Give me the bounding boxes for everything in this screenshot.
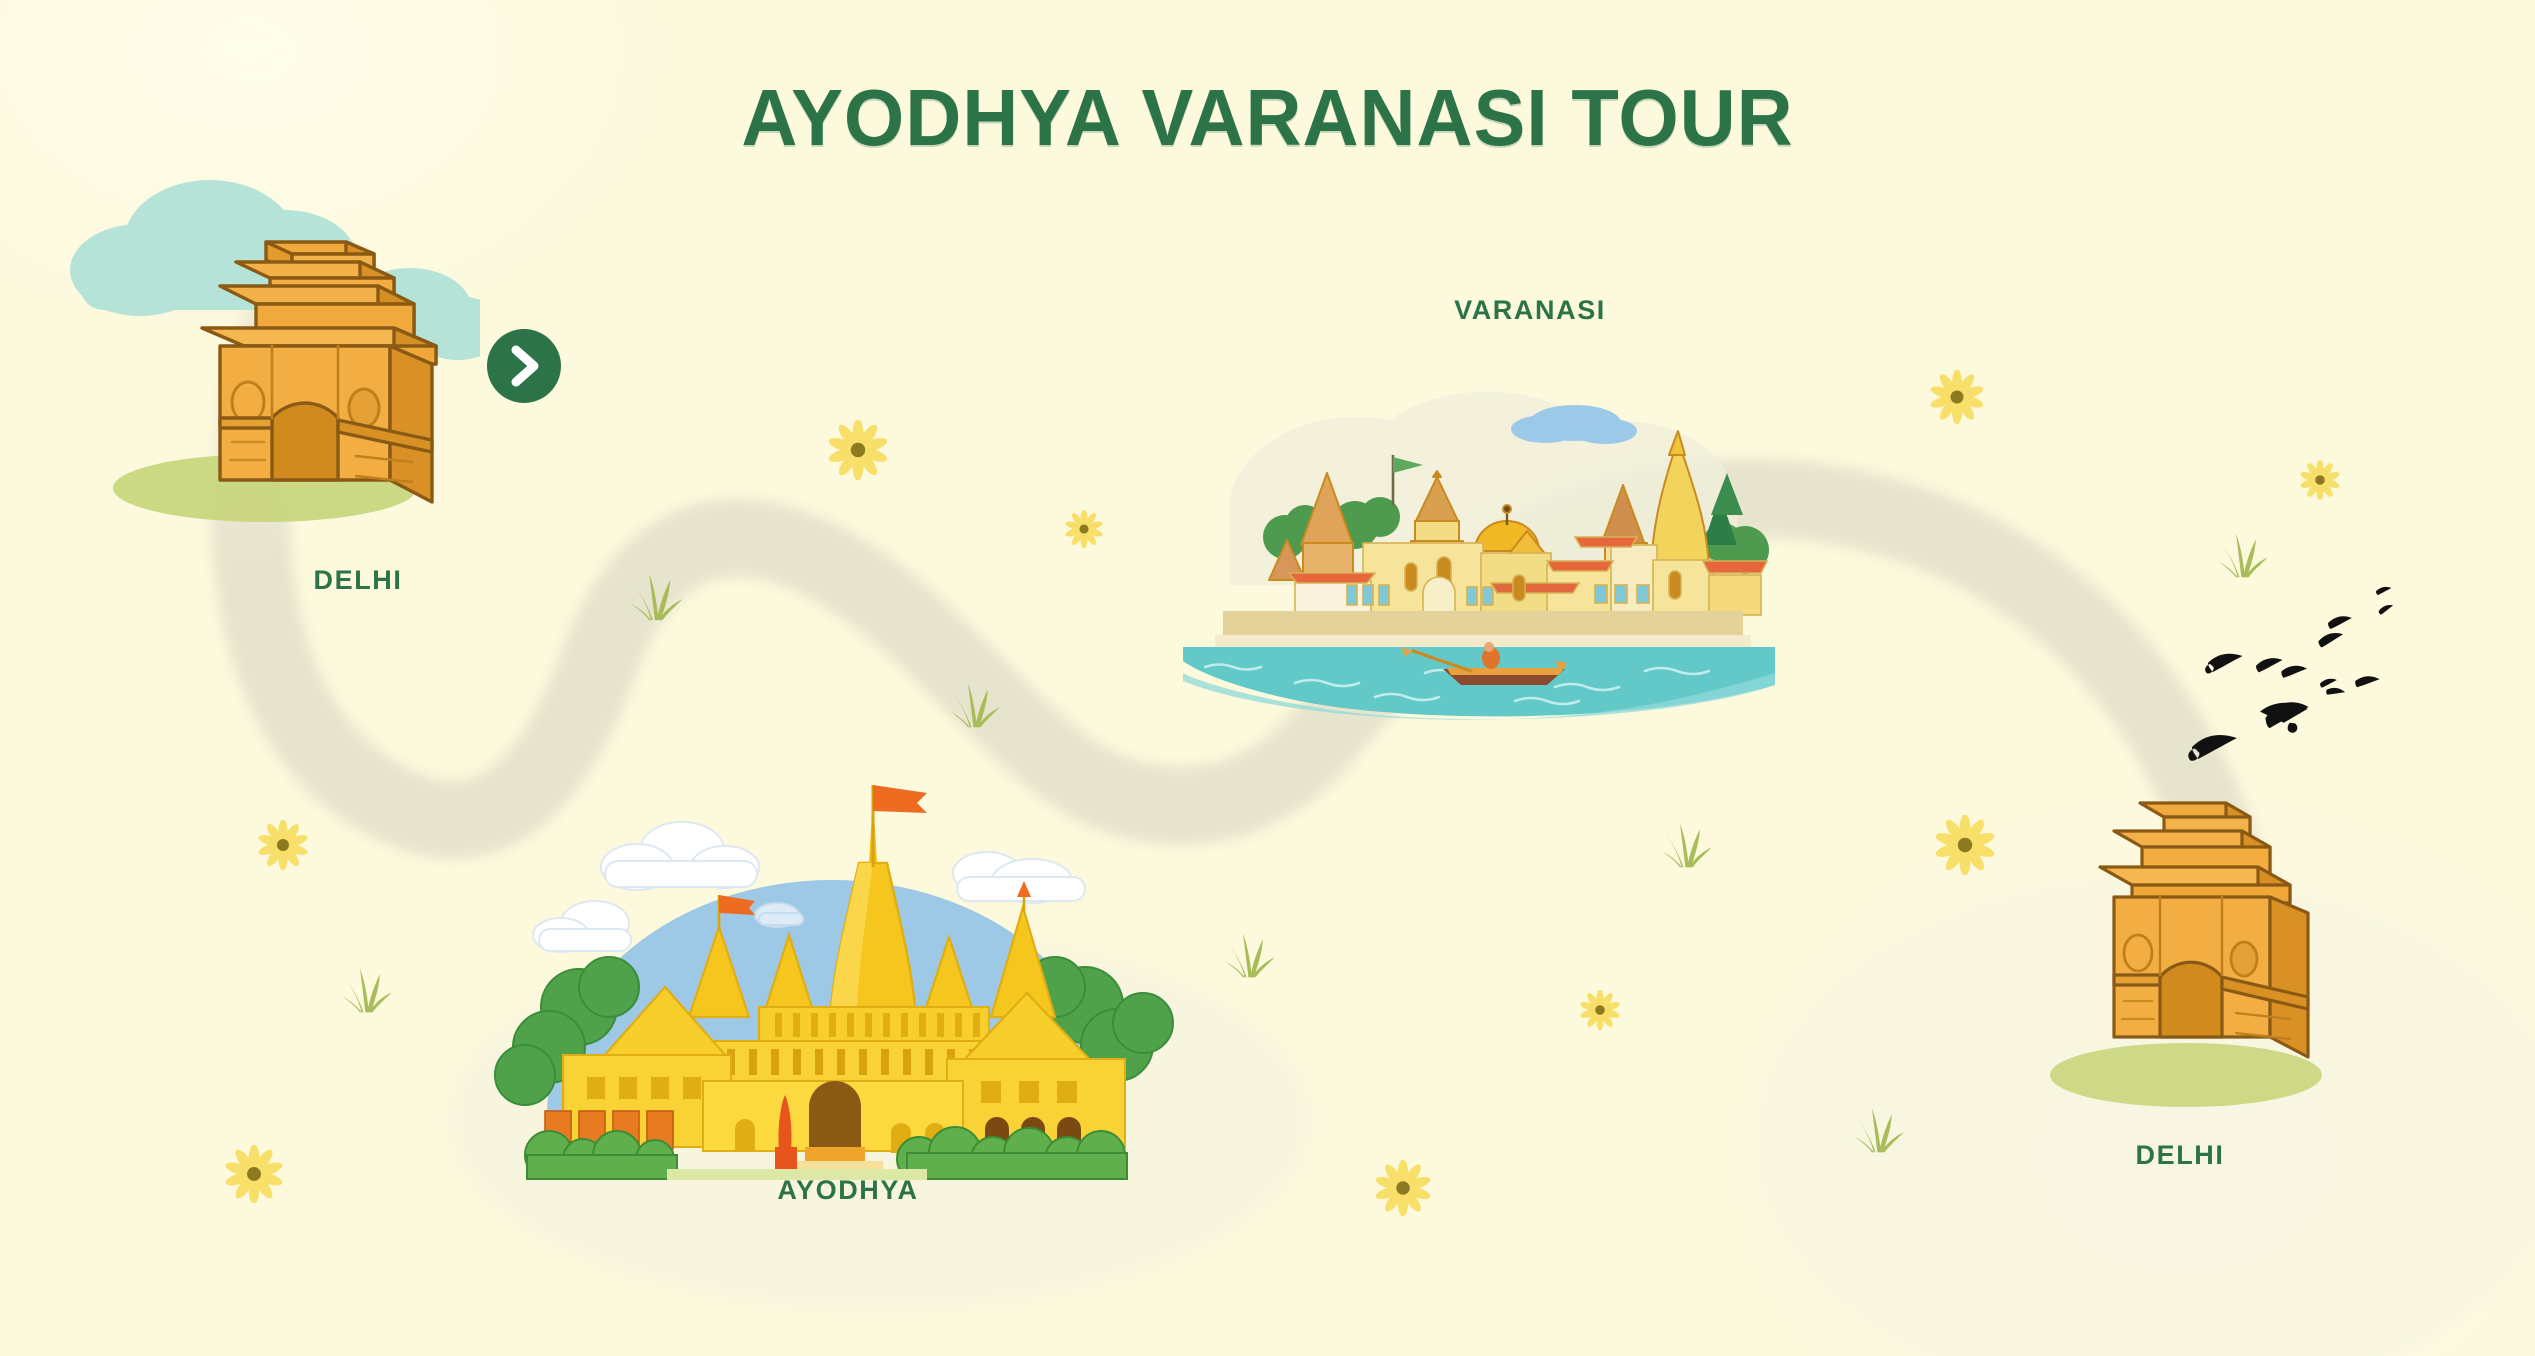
daisy-flower-icon — [1935, 815, 1995, 875]
tour-map-canvas: AYODHYA VARANASI TOUR — [0, 0, 2535, 1356]
grass-tuft-icon — [340, 965, 394, 1014]
decoration-flower — [258, 820, 308, 875]
decoration-flower — [2300, 460, 2340, 505]
decoration-flower — [1930, 370, 1984, 429]
grass-tuft-icon — [628, 570, 686, 622]
daisy-flower-icon — [1375, 1160, 1431, 1216]
decoration-flower — [1375, 1160, 1431, 1221]
bird-icon — [2320, 679, 2337, 688]
decoration-grass — [1660, 820, 1714, 874]
bird-flock — [2178, 578, 2468, 803]
decoration-flower — [1935, 815, 1995, 880]
bird-icon — [2188, 735, 2237, 761]
city-label-varanasi: VARANASI — [1350, 295, 1710, 326]
bird-icon — [2205, 654, 2242, 674]
chevron-right-icon — [508, 345, 540, 387]
decoration-grass — [340, 965, 394, 1019]
grass-tuft-icon — [1852, 1105, 1906, 1154]
bird-icon — [2256, 658, 2283, 672]
grass-tuft-icon — [948, 680, 1002, 729]
daisy-flower-icon — [1580, 990, 1620, 1030]
illustration-varanasi-ghat[interactable] — [1175, 385, 1785, 750]
decoration-grass — [1852, 1105, 1906, 1159]
bird-icon — [2281, 664, 2307, 680]
daisy-flower-icon — [2300, 460, 2340, 500]
flag — [873, 785, 927, 813]
ground-shadow — [2050, 1043, 2322, 1107]
illustration-ram-mandir[interactable] — [487, 755, 1177, 1180]
bird-icon — [2325, 685, 2345, 700]
daisy-flower-icon — [1065, 510, 1103, 548]
decoration-flower — [1065, 510, 1103, 553]
decoration-grass — [1223, 930, 1277, 984]
temple-doorway — [809, 1081, 861, 1151]
daisy-flower-icon — [828, 420, 888, 480]
grass-tuft-icon — [1223, 930, 1277, 979]
ghat-platform — [1223, 611, 1743, 637]
bird-icon — [2376, 587, 2391, 595]
grass-tuft-icon — [1660, 820, 1714, 869]
decoration-flower — [828, 420, 888, 485]
decoration-grass — [948, 680, 1002, 734]
next-stop-button[interactable] — [487, 329, 561, 403]
illustration-india-gate-right[interactable] — [2018, 755, 2348, 1155]
decoration-flower — [1580, 990, 1620, 1035]
decoration-grass — [628, 570, 686, 627]
bird-icon — [2318, 632, 2344, 647]
illustration-india-gate-left[interactable] — [60, 150, 480, 570]
india-gate-structure — [2100, 803, 2308, 1057]
bird-icon — [2378, 604, 2395, 615]
city-label-delhi-right: DELHI — [2080, 1140, 2280, 1171]
decoration-flower — [225, 1145, 283, 1208]
bird-icon — [2328, 616, 2352, 629]
grass-tuft-icon — [2216, 530, 2270, 579]
city-label-ayodhya: AYODHYA — [648, 1175, 1048, 1206]
daisy-flower-icon — [258, 820, 308, 870]
city-label-delhi-left: DELHI — [268, 565, 448, 596]
daisy-flower-icon — [225, 1145, 283, 1203]
decoration-grass — [2216, 530, 2270, 584]
daisy-flower-icon — [1930, 370, 1984, 424]
bird-icon — [2354, 674, 2379, 690]
